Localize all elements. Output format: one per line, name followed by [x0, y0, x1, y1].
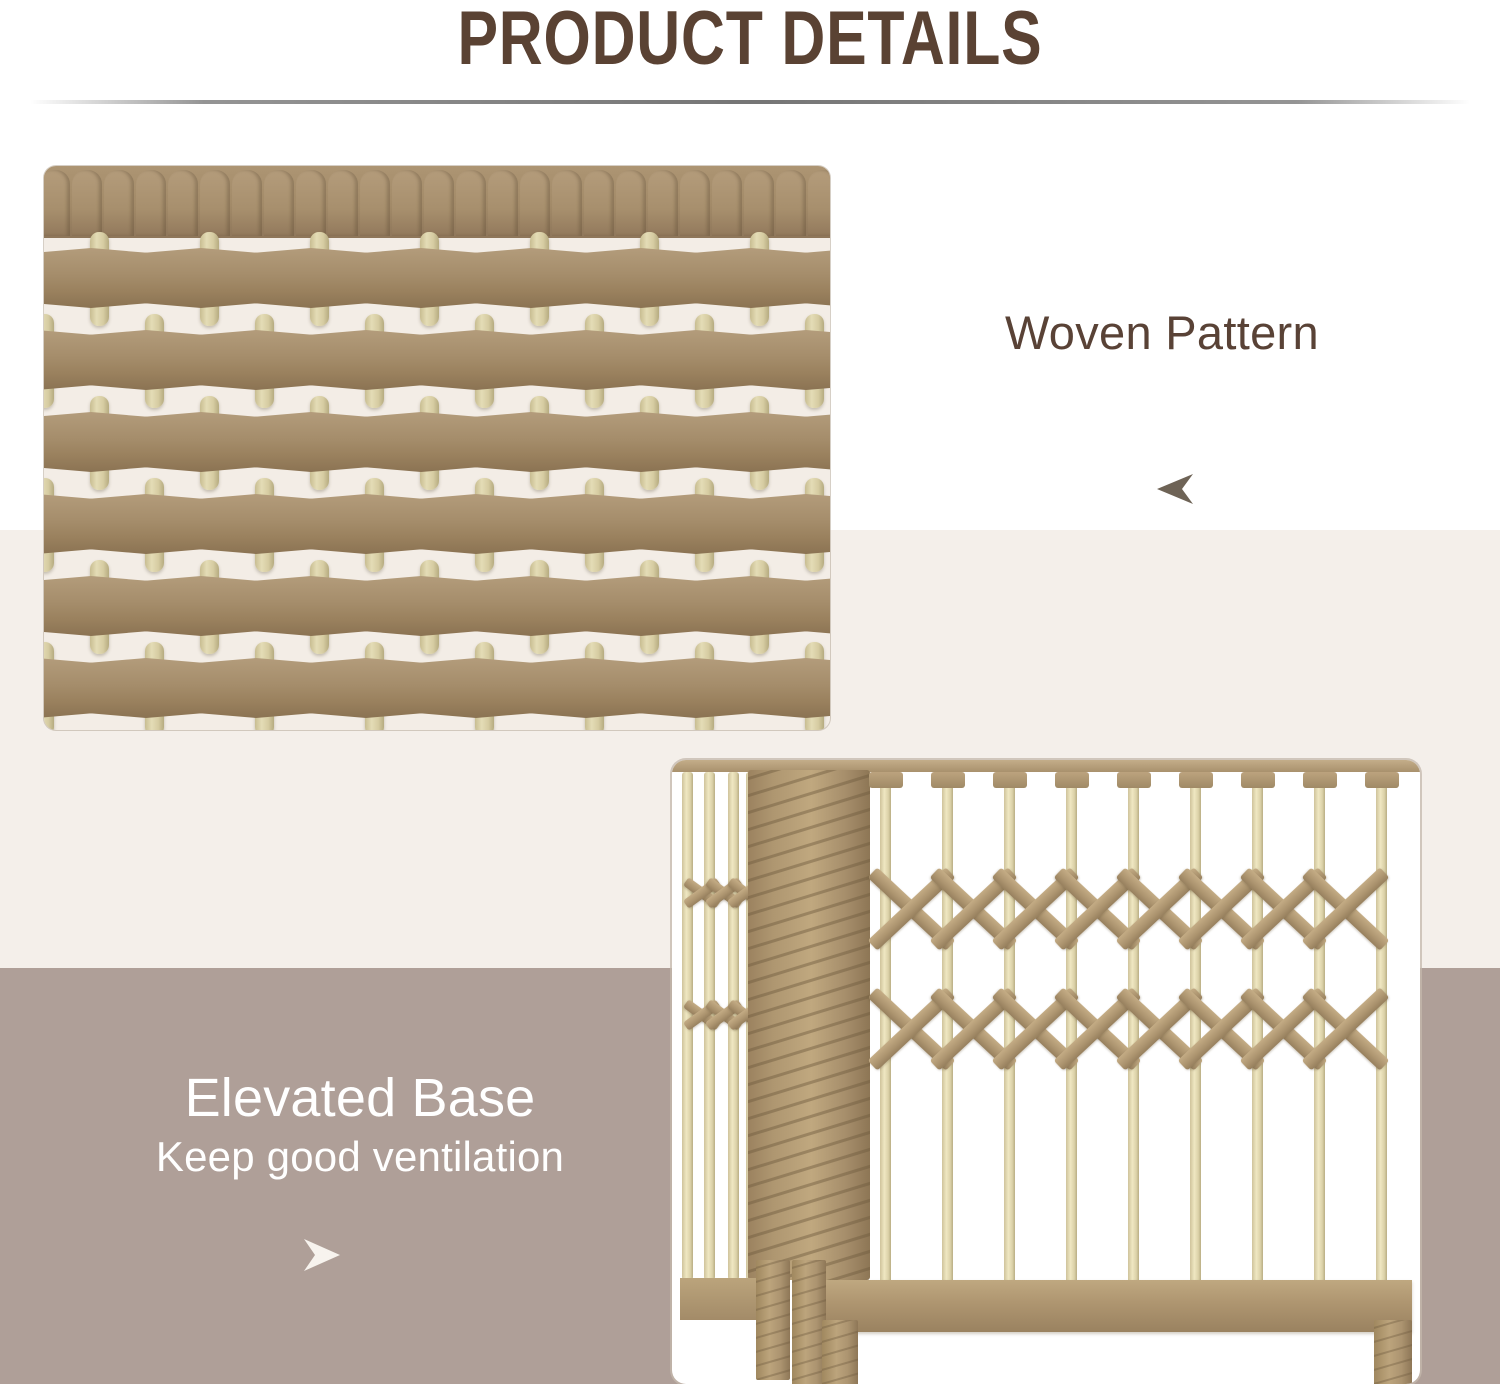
frame-vertical-post: [1066, 772, 1077, 1284]
weave-rib: [552, 170, 582, 236]
weave-rib: [680, 170, 710, 236]
weave-band: [530, 494, 642, 554]
weave-band: [145, 412, 257, 472]
weave-rib: [520, 170, 550, 236]
frame-leg-hatch: [1374, 1320, 1412, 1345]
weave-band: [365, 248, 477, 308]
frame-corner-post: [748, 770, 870, 1280]
weave-rib: [648, 170, 678, 236]
arrow-right-icon: [298, 1236, 342, 1274]
frame-post-cap: [869, 772, 903, 788]
weave-band: [44, 412, 147, 472]
weave-rib: [360, 170, 390, 236]
weave-band: [805, 412, 830, 472]
weave-band: [420, 658, 532, 718]
weave-band: [805, 576, 830, 636]
weave-band: [640, 330, 752, 390]
weave-rib: [296, 170, 326, 236]
elevated-base-label: Elevated Base: [60, 1068, 660, 1128]
weave-band: [255, 576, 367, 636]
weave-band: [310, 330, 422, 390]
frame-vertical-post: [1314, 772, 1325, 1284]
weave-band: [530, 330, 642, 390]
weave-band: [640, 658, 752, 718]
frame-leg: [792, 1260, 826, 1384]
title-divider: [30, 100, 1470, 104]
weave-band: [310, 494, 422, 554]
frame-post-cap: [931, 772, 965, 788]
weave-band: [44, 576, 147, 636]
weave-band: [585, 412, 697, 472]
weave-band: [530, 658, 642, 718]
frame-post-cap: [1365, 772, 1399, 788]
frame-leg-hatch: [792, 1260, 826, 1271]
frame-leg-hatch: [792, 1379, 826, 1384]
frame-post-cap: [1117, 772, 1151, 788]
weave-band: [90, 494, 202, 554]
weave-band: [365, 576, 477, 636]
weave-band: [255, 412, 367, 472]
frame-leg-hatch: [756, 1260, 790, 1271]
weave-rib: [424, 170, 454, 236]
weave-rib: [200, 170, 230, 236]
weave-row: [44, 320, 830, 402]
frame-leg-hatch: [1374, 1320, 1412, 1331]
weave-band: [310, 658, 422, 718]
weave-rib: [616, 170, 646, 236]
weave-row: [44, 484, 830, 566]
weave-band: [640, 494, 752, 554]
weave-band: [420, 494, 532, 554]
frame-left-panel: [680, 770, 754, 1282]
weave-band: [695, 576, 807, 636]
weave-band: [750, 494, 830, 554]
frame-vertical-post: [1190, 772, 1201, 1284]
weave-band: [805, 248, 830, 308]
frame-vertical-post: [942, 772, 953, 1284]
weave-rib: [776, 170, 806, 236]
frame-post-cap: [1303, 772, 1337, 788]
weave-band: [90, 330, 202, 390]
weave-band: [44, 494, 92, 554]
frame-bottom-rail: [822, 1280, 1412, 1332]
weave-band: [255, 248, 367, 308]
frame-leg: [1374, 1320, 1412, 1384]
frame-vertical-post: [1376, 772, 1387, 1284]
weave-row: [44, 238, 830, 320]
frame-vertical-post: [1128, 772, 1139, 1284]
weave-band: [475, 576, 587, 636]
frame-vertical-post: [1252, 772, 1263, 1284]
weave-rib: [392, 170, 422, 236]
weave-rib: [264, 170, 294, 236]
page-title: PRODUCT DETAILS: [150, 0, 1350, 80]
frame-leg: [756, 1260, 790, 1380]
weave-rib: [584, 170, 614, 236]
weave-band: [145, 576, 257, 636]
weave-band: [695, 412, 807, 472]
weave-band: [145, 248, 257, 308]
frame-post-cap: [1241, 772, 1275, 788]
weave-band: [200, 494, 312, 554]
weave-band: [750, 658, 830, 718]
weave-band: [90, 658, 202, 718]
woven-pattern-label: Woven Pattern: [1005, 305, 1319, 360]
elevated-base-sublabel: Keep good ventilation: [60, 1132, 660, 1182]
weave-rib: [488, 170, 518, 236]
weave-band: [200, 658, 312, 718]
weave-band: [200, 330, 312, 390]
weave-rib: [104, 170, 134, 236]
weave-band: [695, 248, 807, 308]
weave-rib: [44, 170, 70, 236]
woven-pattern-image: [44, 166, 830, 730]
weave-band: [44, 658, 92, 718]
elevated-base-image: [672, 760, 1420, 1384]
elevated-base-text-block: Elevated Base Keep good ventilation: [60, 1068, 660, 1183]
weave-rib: [232, 170, 262, 236]
weave-rib: [168, 170, 198, 236]
weave-band: [585, 248, 697, 308]
frame-leg: [822, 1320, 858, 1384]
weave-band: [475, 248, 587, 308]
weave-rib: [808, 170, 830, 236]
weave-row: [44, 566, 830, 648]
weave-band: [44, 248, 147, 308]
frame-leg-hatch: [822, 1320, 858, 1331]
arrow-left-icon: [1155, 472, 1195, 506]
frame-vertical-post: [1004, 772, 1015, 1284]
weave-rib: [328, 170, 358, 236]
frame-post-cap: [993, 772, 1027, 788]
weave-row: [44, 402, 830, 484]
weave-band: [365, 412, 477, 472]
weave-row: [44, 648, 830, 730]
weave-rib: [72, 170, 102, 236]
weave-band: [475, 412, 587, 472]
weave-rib: [136, 170, 166, 236]
weave-rib: [456, 170, 486, 236]
weave-band: [420, 330, 532, 390]
frame-post-cap: [1179, 772, 1213, 788]
frame-vertical-post: [880, 772, 891, 1284]
weave-band: [585, 576, 697, 636]
frame-post-cap: [1055, 772, 1089, 788]
weave-rib: [744, 170, 774, 236]
weave-rib: [712, 170, 742, 236]
weave-band: [750, 330, 830, 390]
weave-band: [44, 330, 92, 390]
